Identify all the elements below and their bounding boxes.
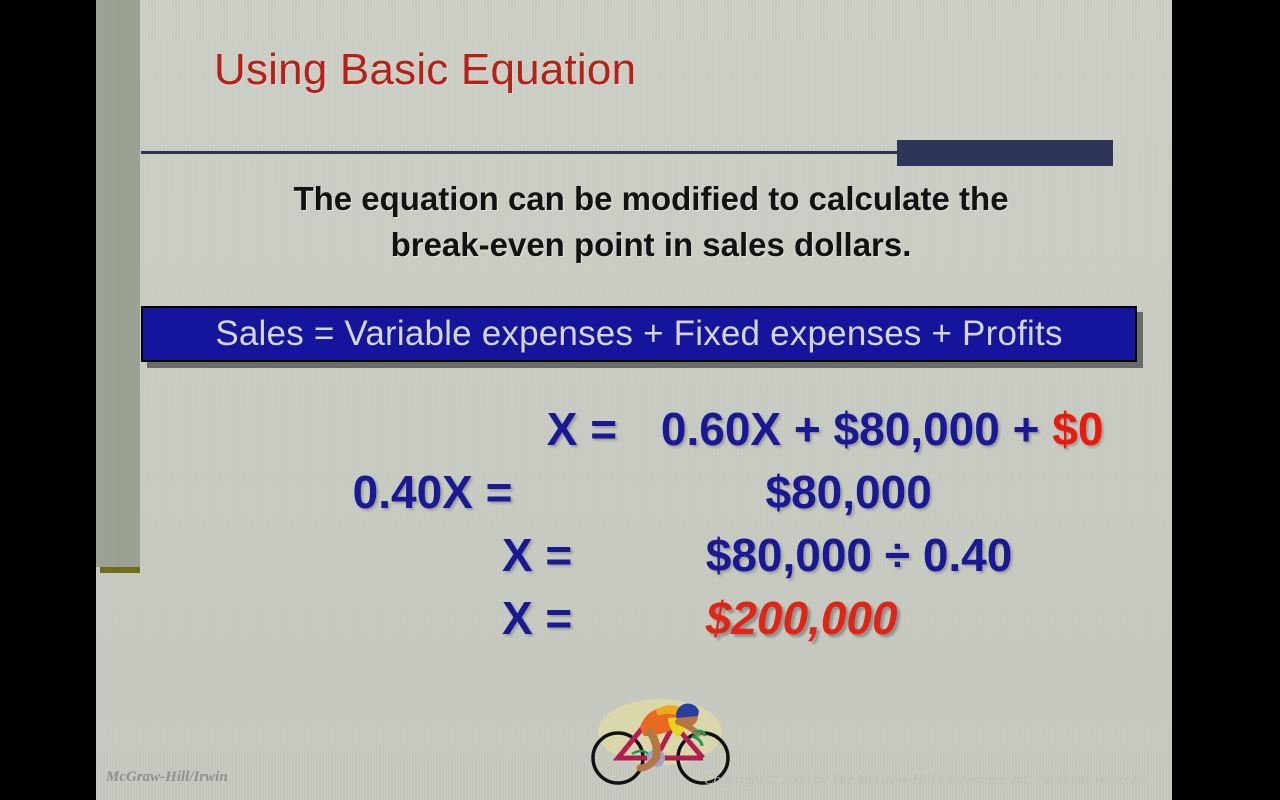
slide-canvas: Using Basic Equation The equation can be…: [96, 0, 1172, 800]
left-band-olive-footer: [100, 567, 140, 573]
solution-line-2-lhs: 0.40X =: [353, 465, 515, 519]
solution-line-3-lhs: X =: [502, 528, 574, 582]
body-statement: The equation can be modified to calculat…: [141, 176, 1161, 267]
equation-banner-text: Sales = Variable expenses + Fixed expens…: [215, 314, 1062, 354]
title-divider-navy-block: [897, 140, 1113, 166]
solution-line-4: X = $200,000: [141, 591, 1137, 654]
slide-root: Using Basic Equation The equation can be…: [0, 0, 1280, 800]
solution-line-1-lhs: X =: [547, 402, 619, 456]
solution-line-2-rhs: $80,000: [764, 465, 932, 519]
title-divider-rule: [141, 151, 901, 154]
equation-banner: Sales = Variable expenses + Fixed expens…: [141, 306, 1137, 362]
solution-line-3-rhs: $80,000 ÷ 0.40: [704, 528, 1013, 582]
solution-line-2: 0.40X = $80,000: [141, 465, 1137, 528]
left-decorative-band: [96, 0, 140, 567]
solution-line-3: X = $80,000 ÷ 0.40: [141, 528, 1137, 591]
footer-copyright: Copyright © 2008 by The McGraw-Hill Comp…: [704, 772, 1148, 789]
body-statement-line-2: break-even point in sales dollars.: [141, 222, 1161, 268]
solution-line-1-profit-value: $0: [1052, 403, 1103, 455]
solution-line-4-lhs: X =: [502, 591, 574, 645]
page-title: Using Basic Equation: [214, 45, 636, 95]
body-statement-line-1: The equation can be modified to calculat…: [141, 176, 1161, 222]
solution-line-1-rhs-text: 0.60X + $80,000 +: [661, 403, 1040, 455]
solution-block: X = 0.60X + $80,000 + $0 0.40X = $80,000…: [141, 402, 1137, 654]
solution-line-4-answer: $200,000: [704, 591, 898, 645]
footer-publisher: McGraw-Hill/Irwin: [106, 769, 228, 786]
solution-line-1: X = 0.60X + $80,000 + $0: [141, 402, 1137, 465]
solution-line-1-rhs: 0.60X + $80,000 + $0: [659, 402, 1104, 456]
